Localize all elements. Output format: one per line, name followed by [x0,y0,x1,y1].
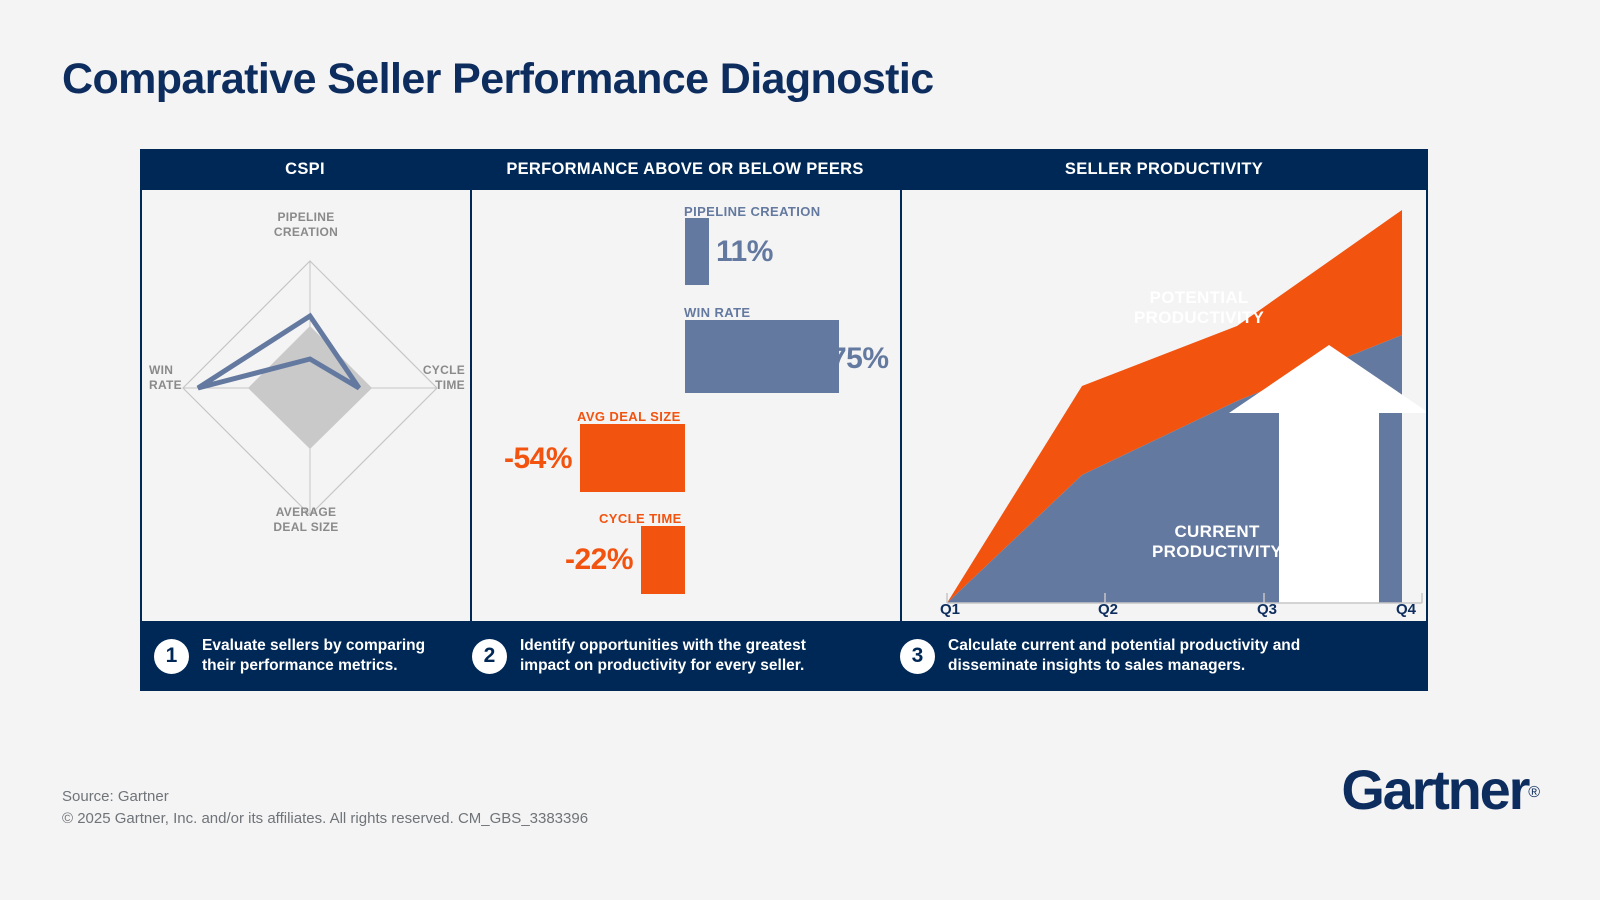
area-label-current-productivity: CURRENT PRODUCTIVITY [1152,522,1282,563]
copyright-line: © 2025 Gartner, Inc. and/or its affiliat… [62,808,588,830]
page-title: Comparative Seller Performance Diagnosti… [62,55,934,104]
radar-label-line2: CREATION [142,225,470,240]
x-tick-label-q2: Q2 [1098,601,1118,618]
area-label-line1: POTENTIAL [1134,288,1264,308]
column-header-performance: PERFORMANCE ABOVE OR BELOW PEERS [470,149,900,190]
bar-value-pipeline-creation: 11% [716,235,773,269]
source-line: Source: Gartner [62,786,588,808]
column-header-bar: CSPI PERFORMANCE ABOVE OR BELOW PEERS SE… [140,149,1428,190]
radar-label-line1: CYCLE [423,363,465,378]
radar-label-line2: TIME [423,378,465,393]
panel-cspi-radar: PIPELINE CREATION CYCLE TIME AVERAGE DEA… [142,190,470,621]
radar-chart [142,190,470,621]
gartner-logo: Gartner® [1341,757,1540,822]
radar-label-cycle-time: CYCLE TIME [423,363,465,392]
bar-rect-pipeline-creation [685,218,709,285]
step-3-line1: Calculate current and potential producti… [948,636,1300,656]
step-2-line2: impact on productivity for every seller. [520,656,806,676]
panel-performance-bars: PIPELINE CREATION 11% WIN RATE 75% AVG D… [472,190,900,621]
bar-label-cycle-time: CYCLE TIME [599,511,682,526]
radar-label-win-rate: WIN RATE [149,363,182,392]
bar-label-avg-deal-size: AVG DEAL SIZE [577,409,681,424]
bar-value-win-rate: 75% [830,342,889,376]
area-label-potential-productivity: POTENTIAL PRODUCTIVITY [1134,288,1264,329]
area-label-line2: PRODUCTIVITY [1134,308,1264,328]
bar-label-win-rate: WIN RATE [684,305,751,320]
radar-label-pipeline-creation: PIPELINE CREATION [142,210,470,239]
source-attribution: Source: Gartner © 2025 Gartner, Inc. and… [62,786,588,830]
step-3: 3 Calculate current and potential produc… [900,621,1428,691]
bar-label-pipeline-creation: PIPELINE CREATION [684,204,821,219]
bar-rect-cycle-time [641,526,685,594]
step-2: 2 Identify opportunities with the greate… [470,621,900,691]
step-3-text: Calculate current and potential producti… [948,636,1300,677]
step-1: 1 Evaluate sellers by comparing their pe… [140,621,470,691]
radar-label-average-deal-size: AVERAGE DEAL SIZE [142,505,470,534]
diverging-bar-chart: PIPELINE CREATION 11% WIN RATE 75% AVG D… [472,190,900,621]
step-2-text: Identify opportunities with the greatest… [520,636,806,677]
bar-rect-avg-deal-size [580,424,685,492]
radar-label-line1: PIPELINE [142,210,470,225]
bar-rect-win-rate [685,320,839,393]
step-1-line1: Evaluate sellers by comparing [202,636,425,656]
step-1-text: Evaluate sellers by comparing their perf… [202,636,425,677]
radar-label-line1: WIN [149,363,182,378]
step-2-badge: 2 [472,639,507,674]
registered-trademark-icon: ® [1528,784,1540,801]
area-label-line2: PRODUCTIVITY [1152,542,1282,562]
bar-value-cycle-time: -22% [565,543,633,577]
area-label-line1: CURRENT [1152,522,1282,542]
step-2-line1: Identify opportunities with the greatest [520,636,806,656]
step-1-line2: their performance metrics. [202,656,425,676]
steps-footer: 1 Evaluate sellers by comparing their pe… [140,621,1428,691]
infographic-frame: CSPI PERFORMANCE ABOVE OR BELOW PEERS SE… [140,149,1428,691]
column-header-cspi: CSPI [140,149,470,190]
x-tick-label-q4: Q4 [1396,601,1416,618]
step-1-badge: 1 [154,639,189,674]
panels-row: PIPELINE CREATION CYCLE TIME AVERAGE DEA… [142,190,1426,621]
bar-value-avg-deal-size: -54% [504,442,572,476]
radar-label-line2: DEAL SIZE [142,520,470,535]
radar-label-line2: RATE [149,378,182,393]
step-3-line2: disseminate insights to sales managers. [948,656,1300,676]
panel-seller-productivity: POTENTIAL PRODUCTIVITY CURRENT PRODUCTIV… [902,190,1426,621]
gartner-logo-text: Gartner [1341,758,1528,821]
radar-label-line1: AVERAGE [142,505,470,520]
x-tick-label-q3: Q3 [1257,601,1277,618]
x-tick-label-q1: Q1 [940,601,960,618]
column-header-productivity: SELLER PRODUCTIVITY [900,149,1428,190]
step-3-badge: 3 [900,639,935,674]
